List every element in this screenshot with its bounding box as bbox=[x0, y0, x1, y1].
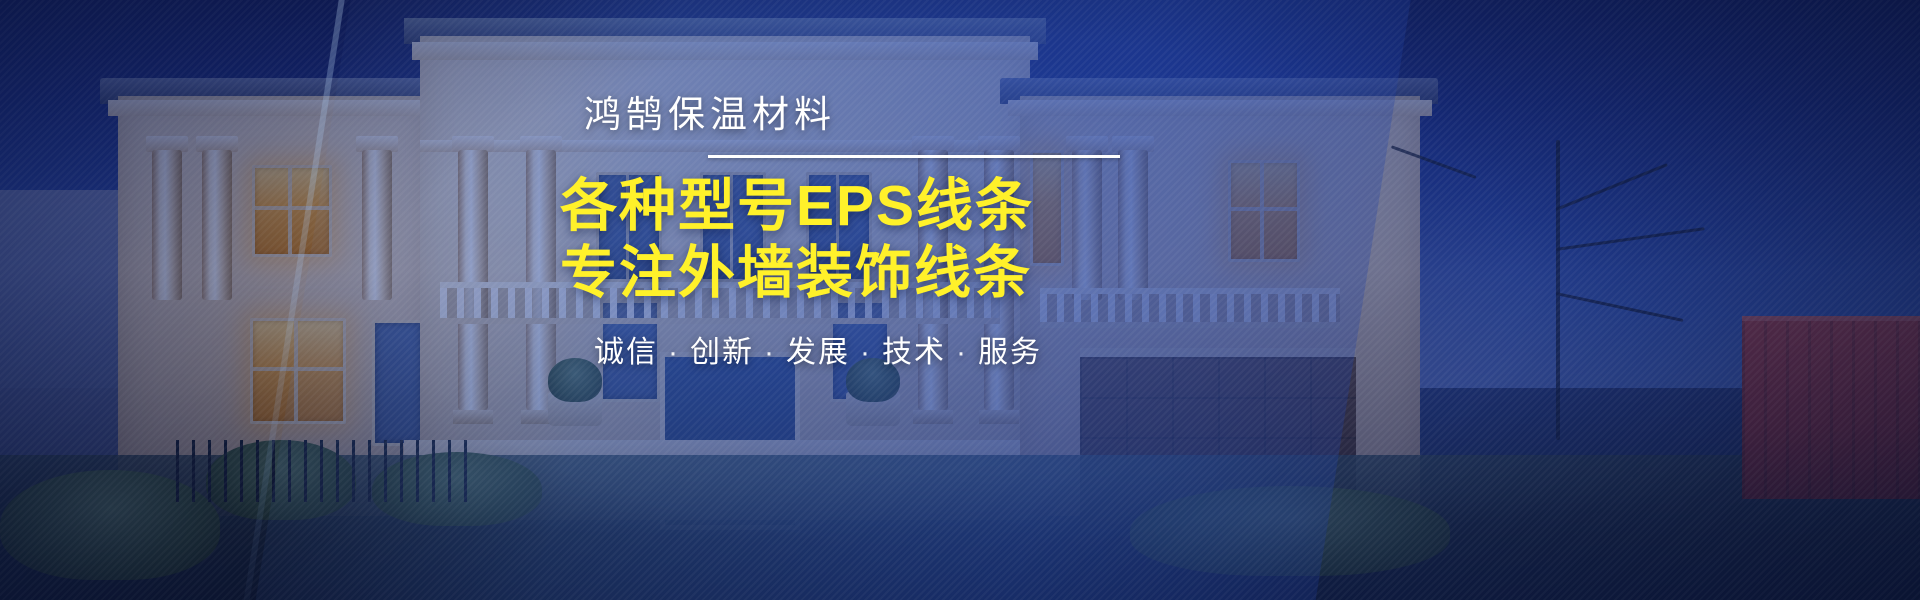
brand-name: 鸿鹄保温材料 bbox=[584, 96, 1116, 133]
tagline-item: 创新 bbox=[690, 336, 754, 369]
banner-content: 鸿鹄保温材料 各种型号EPS线条 专注外墙装饰线条 诚信·创新·发展·技术·服务 bbox=[556, 96, 1116, 368]
tagline-separator: · bbox=[860, 336, 872, 369]
tagline-item: 诚信 bbox=[594, 336, 658, 369]
headline-line-1: 各种型号EPS线条 bbox=[560, 176, 1116, 237]
tagline-separator: · bbox=[668, 336, 680, 369]
headline-line-2: 专注外墙装饰线条 bbox=[560, 243, 1116, 304]
tagline-item: 技术 bbox=[882, 336, 946, 369]
tagline-item: 服务 bbox=[978, 336, 1042, 369]
tagline-separator: · bbox=[956, 336, 968, 369]
tagline-separator: · bbox=[764, 336, 776, 369]
tagline: 诚信·创新·发展·技术·服务 bbox=[594, 338, 1116, 368]
promo-banner: 鸿鹄保温材料 各种型号EPS线条 专注外墙装饰线条 诚信·创新·发展·技术·服务 bbox=[0, 0, 1920, 600]
tagline-item: 发展 bbox=[786, 336, 850, 369]
divider-rule bbox=[708, 155, 1120, 158]
